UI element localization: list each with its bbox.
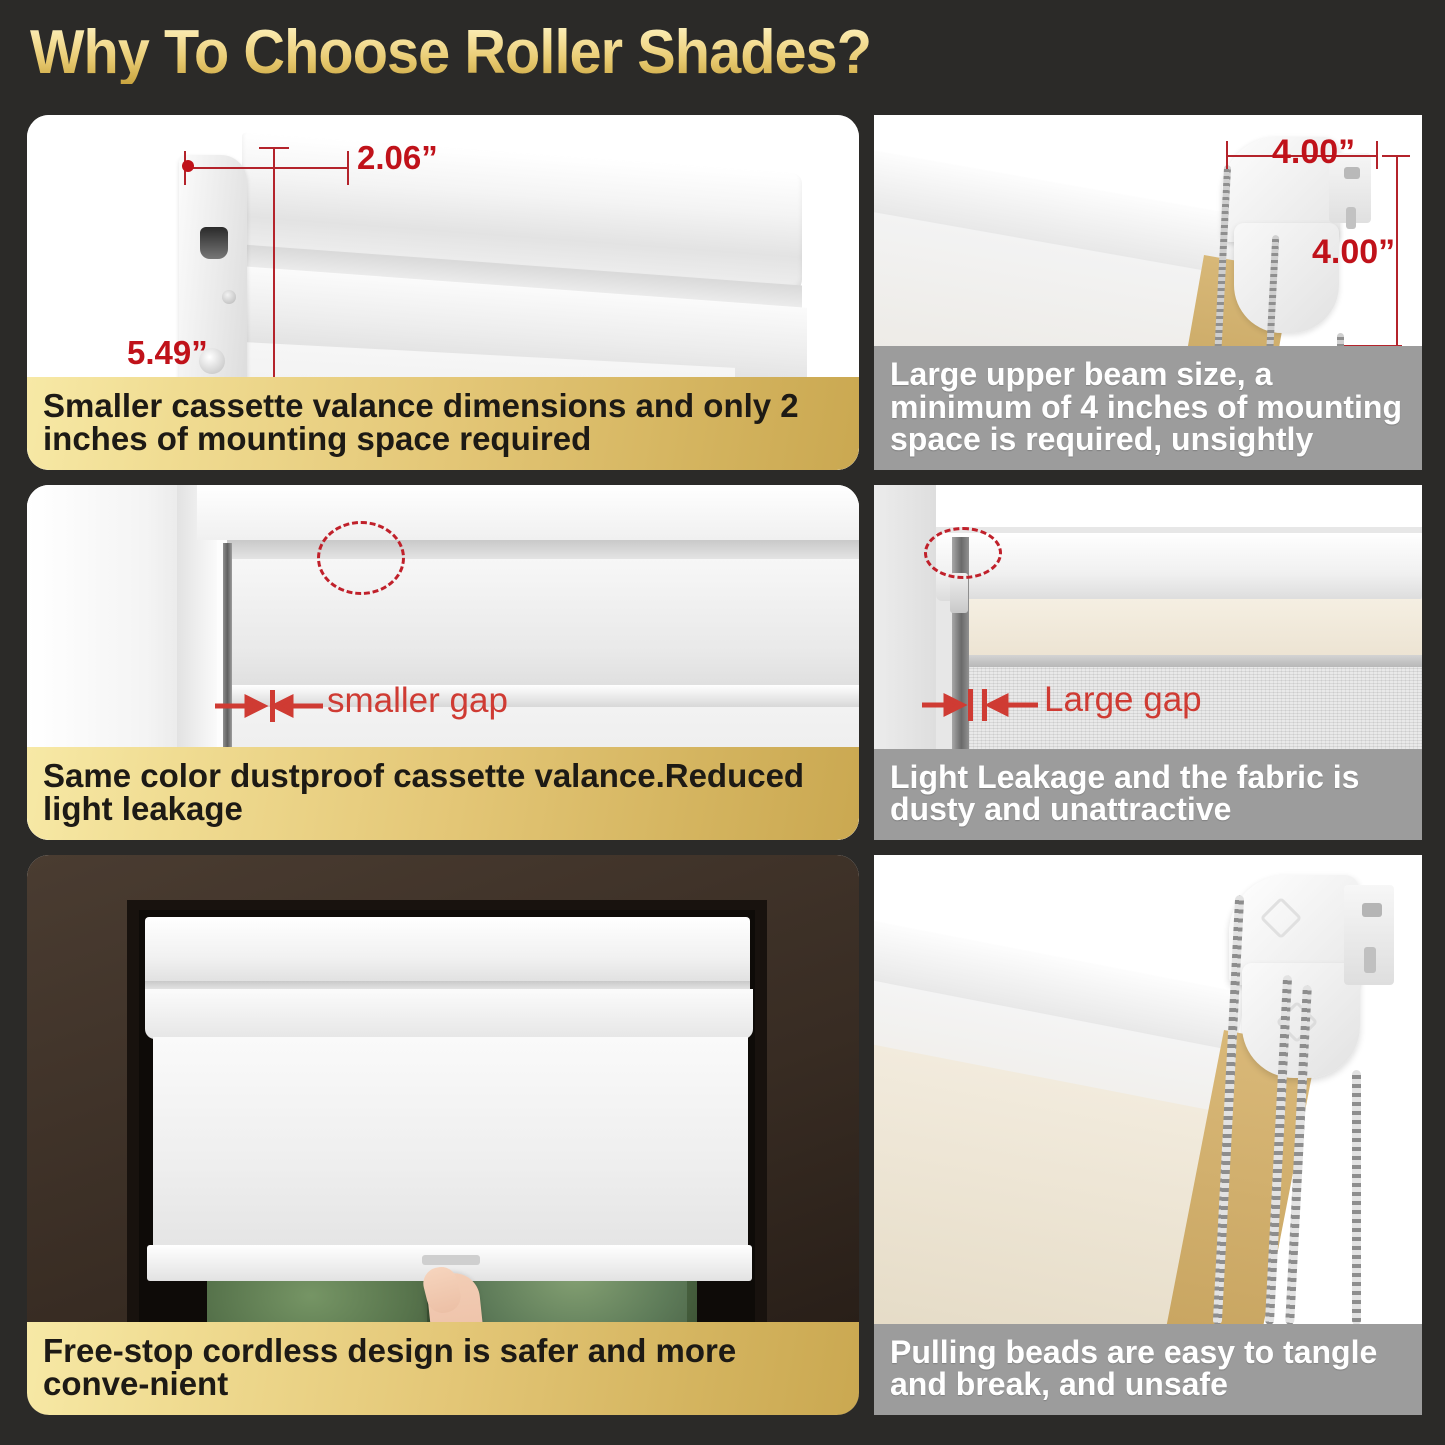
gap-callout-label: Large gap — [1044, 680, 1202, 720]
beam-height-label: 4.00” — [1312, 233, 1395, 272]
height-dim-top-tick — [259, 147, 289, 149]
caption-pro-cassette-dimensions: Smaller cassette valance dimensions and … — [27, 377, 859, 470]
mount-slot-2 — [1364, 947, 1376, 973]
bottom-rail — [964, 655, 1422, 667]
height-dim-line — [273, 147, 275, 409]
headrail-lower — [145, 989, 753, 1039]
upper-beam-white — [936, 533, 1422, 601]
beam-width-label: 4.00” — [1272, 133, 1355, 172]
width-dimension-label: 2.06” — [357, 139, 438, 177]
headrail-cassette — [145, 917, 750, 985]
beam-height-line — [1396, 155, 1398, 347]
caption-con-large-upper-beam: Large upper beam size, a minimum of 4 in… — [874, 346, 1422, 470]
mount-slot-1 — [1362, 903, 1382, 917]
bead-chain-4 — [1352, 1070, 1361, 1325]
width-dim-dot — [182, 160, 194, 172]
bracket-clip — [950, 573, 968, 613]
wall-top — [874, 485, 1422, 527]
beam-height-top-tick — [1382, 155, 1410, 157]
beam-width-left-tick — [1226, 141, 1228, 169]
beam-width-right-tick — [1376, 141, 1378, 169]
page-title: Why To Choose Roller Shades? — [30, 22, 871, 84]
valance-face — [227, 559, 859, 691]
panel-pro-cordless-design: Free-stop cordless design is safer and m… — [27, 855, 859, 1415]
gap-callout-label: smaller gap — [327, 681, 508, 721]
caption-pro-cordless-design: Free-stop cordless design is safer and m… — [27, 1322, 859, 1415]
bracket-screw-small — [222, 290, 236, 304]
caption-pro-dustproof-valance: Same color dustproof cassette valance.Re… — [27, 747, 859, 840]
panel-con-large-upper-beam: 4.00” 4.00” Large upper beam size, a min… — [874, 115, 1422, 470]
highlight-circle-icon — [924, 527, 1002, 579]
bracket-slot — [200, 227, 228, 259]
height-dimension-label: 5.49” — [127, 334, 208, 372]
width-dim-line — [184, 167, 349, 169]
panel-con-pulling-beads: Pulling beads are easy to tangle and bre… — [874, 855, 1422, 1415]
panel-pro-dustproof-valance: smaller gap Same color dustproof cassett… — [27, 485, 859, 840]
shade-fabric-main — [153, 1037, 748, 1252]
highlight-circle-icon — [317, 521, 405, 595]
panel-con-light-leakage: Large gap Light Leakage and the fabric i… — [874, 485, 1422, 840]
bottom-rail-tab — [422, 1255, 480, 1265]
mount-slot-2 — [1346, 207, 1356, 229]
panel-pro-cassette-dimensions: 2.06” 5.49” Smaller cassette valance dim… — [27, 115, 859, 470]
fabric-cream-band — [964, 599, 1422, 659]
infographic-root: Why To Choose Roller Shades? Why To Choo… — [0, 0, 1445, 1445]
window-casing-top — [197, 485, 859, 540]
caption-con-light-leakage: Light Leakage and the fabric is dusty an… — [874, 749, 1422, 840]
caption-con-pulling-beads: Pulling beads are easy to tangle and bre… — [874, 1324, 1422, 1415]
